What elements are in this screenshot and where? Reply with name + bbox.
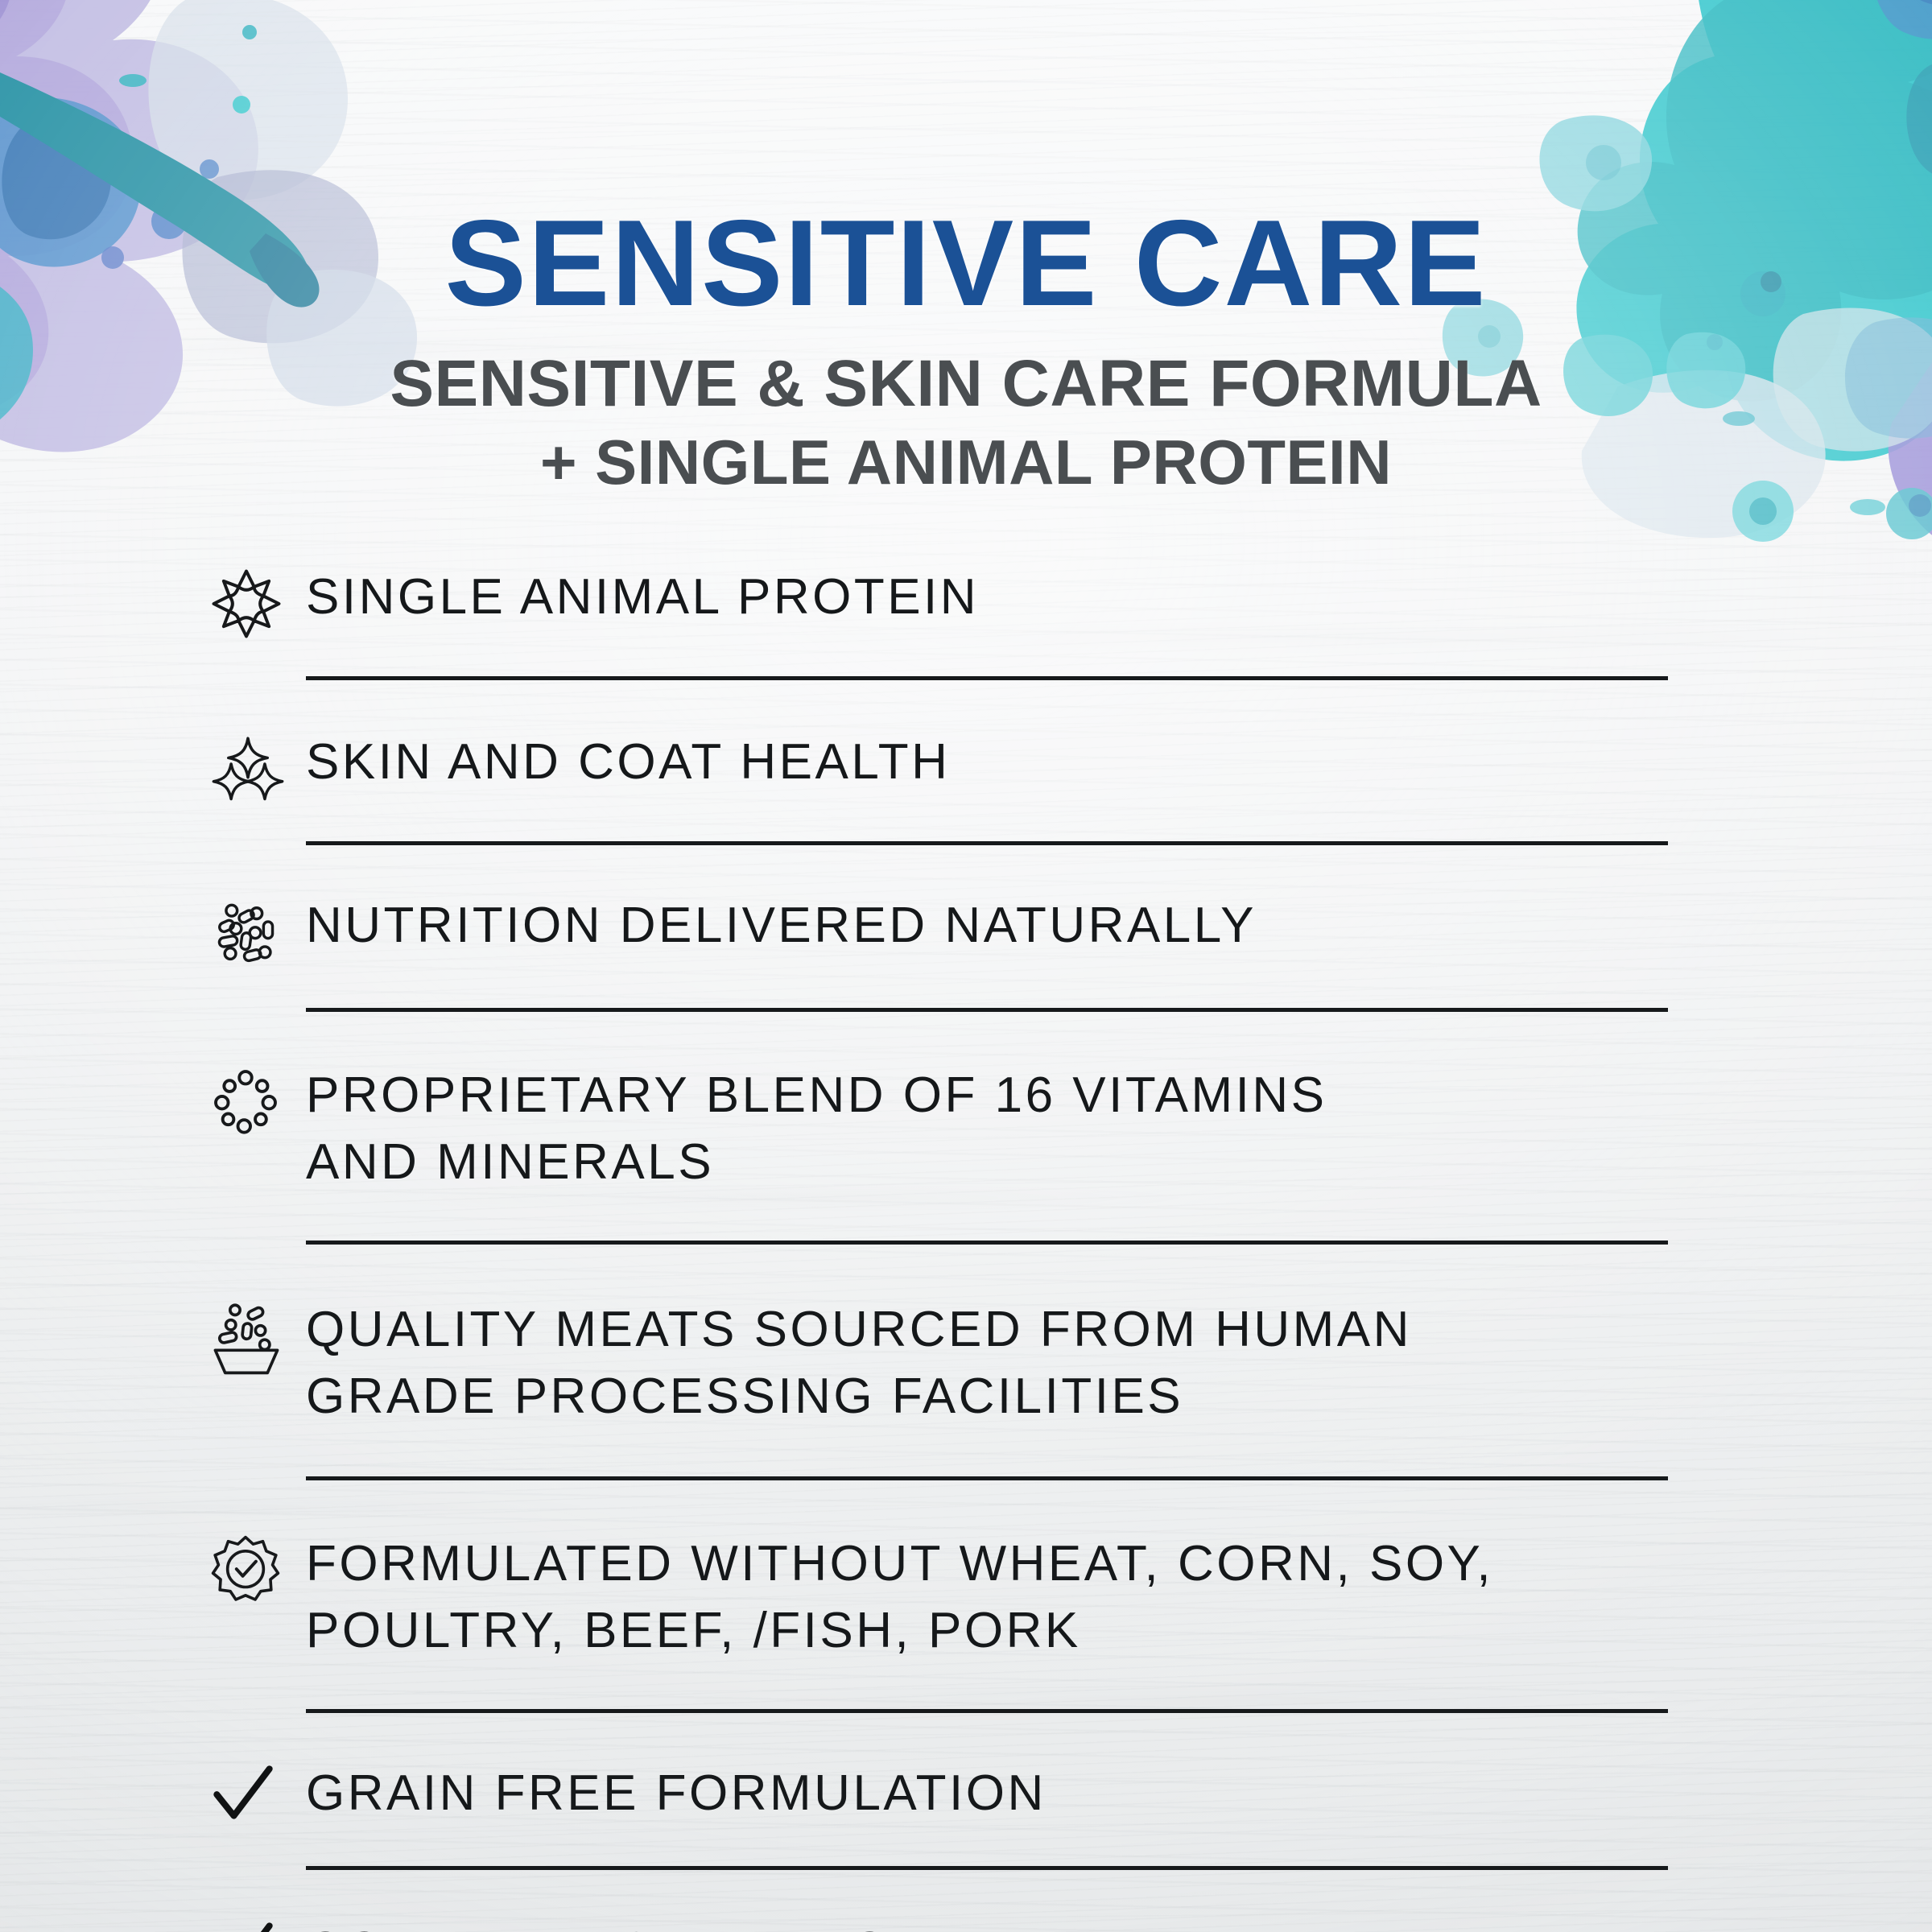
divider <box>306 1241 1668 1245</box>
subtitle-line-1: SENSITIVE & SKIN CARE FORMULA <box>0 347 1932 421</box>
divider <box>306 676 1668 680</box>
list-item: COMPLETE & BALANCED <box>211 1917 1668 1932</box>
list-item-label: NUTRITION DELIVERED NATURALLY <box>306 892 1668 959</box>
page-title: SENSITIVE CARE <box>0 201 1932 326</box>
list-item-label: PROPRIETARY BLEND OF 16 VITAMINS AND MIN… <box>306 1062 1668 1195</box>
dot-circle-ring-icon <box>211 1062 306 1136</box>
list-item: QUALITY MEATS SOURCED FROM HUMAN GRADE P… <box>211 1296 1668 1430</box>
list-item-label: GRAIN FREE FORMULATION <box>306 1760 1668 1827</box>
list-item: SINGLE ANIMAL PROTEIN <box>211 563 1668 639</box>
sparkles-icon <box>211 729 306 803</box>
header: SENSITIVE CARE SENSITIVE & SKIN CARE FOR… <box>0 201 1932 497</box>
checkmark-icon <box>211 1917 306 1932</box>
food-bowl-icon <box>211 1296 306 1375</box>
certified-badge-check-icon <box>211 1530 306 1604</box>
list-item: SKIN AND COAT HEALTH <box>211 729 1668 803</box>
divider <box>306 1866 1668 1870</box>
checkmark-icon <box>211 1760 306 1826</box>
seeds-scatter-icon <box>211 892 306 966</box>
list-item: PROPRIETARY BLEND OF 16 VITAMINS AND MIN… <box>211 1062 1668 1195</box>
subtitle-line-2: + SINGLE ANIMAL PROTEIN <box>0 427 1932 497</box>
list-item: NUTRITION DELIVERED NATURALLY <box>211 892 1668 966</box>
list-item-label: SINGLE ANIMAL PROTEIN <box>306 563 1668 630</box>
divider <box>306 1709 1668 1713</box>
product-infographic: SENSITIVE CARE SENSITIVE & SKIN CARE FOR… <box>0 0 1932 1932</box>
feature-list: SINGLE ANIMAL PROTEIN SKIN AND COAT HEAL… <box>211 563 1668 1932</box>
list-item: GRAIN FREE FORMULATION <box>211 1760 1668 1827</box>
starburst-icon <box>211 563 306 639</box>
divider <box>306 1476 1668 1480</box>
list-item-label: QUALITY MEATS SOURCED FROM HUMAN GRADE P… <box>306 1296 1668 1430</box>
list-item: FORMULATED WITHOUT WHEAT, CORN, SOY, POU… <box>211 1530 1668 1664</box>
list-item-label: COMPLETE & BALANCED <box>306 1917 1668 1932</box>
list-item-label: SKIN AND COAT HEALTH <box>306 729 1668 795</box>
divider <box>306 841 1668 845</box>
divider <box>306 1008 1668 1012</box>
list-item-label: FORMULATED WITHOUT WHEAT, CORN, SOY, POU… <box>306 1530 1668 1664</box>
